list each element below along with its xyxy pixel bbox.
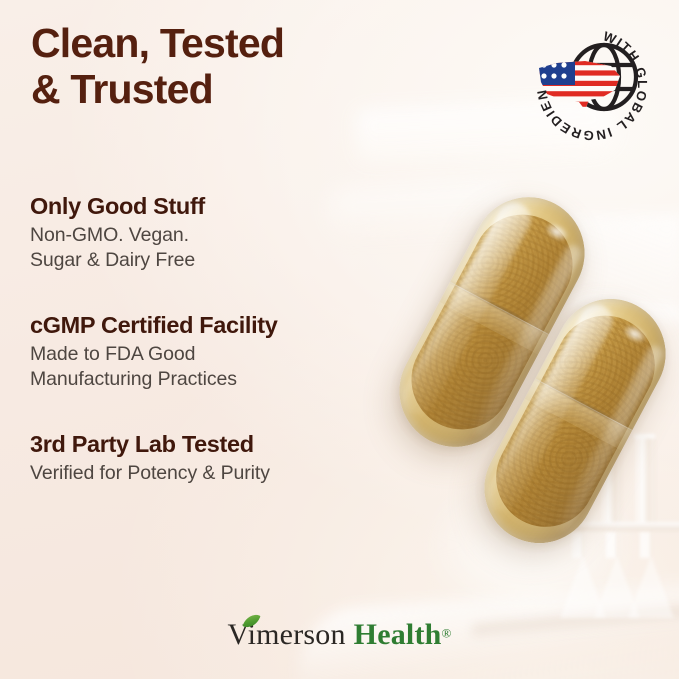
- brand-logo: Vimerson Health®: [0, 618, 679, 652]
- feature-body: Non-GMO. Vegan. Sugar & Dairy Free: [30, 223, 390, 273]
- feature-title: Only Good Stuff: [30, 192, 390, 220]
- feature-block-3rd-party-lab-tested: 3rd Party Lab Tested Verified for Potenc…: [30, 430, 390, 486]
- feature-body: Made to FDA Good Manufacturing Practices: [30, 342, 390, 392]
- with-global-ingredients-badge: WITH GLOBAL INGREDIENTS: [527, 20, 657, 150]
- product-marketing-image: Clean, Tested & Trusted Only Good Stuff …: [0, 0, 679, 679]
- feature-body: Verified for Potency & Purity: [30, 461, 390, 486]
- feature-title: 3rd Party Lab Tested: [30, 430, 390, 458]
- brand-name-primary: Vimerson: [228, 618, 346, 651]
- brand-word-health: Health: [354, 618, 442, 651]
- registered-trademark-icon: ®: [442, 626, 452, 641]
- headline: Clean, Tested & Trusted: [31, 20, 431, 113]
- feature-block-only-good-stuff: Only Good Stuff Non-GMO. Vegan. Sugar & …: [30, 192, 390, 273]
- feature-title: cGMP Certified Facility: [30, 311, 390, 339]
- feature-block-cgmp-certified-facility: cGMP Certified Facility Made to FDA Good…: [30, 311, 390, 392]
